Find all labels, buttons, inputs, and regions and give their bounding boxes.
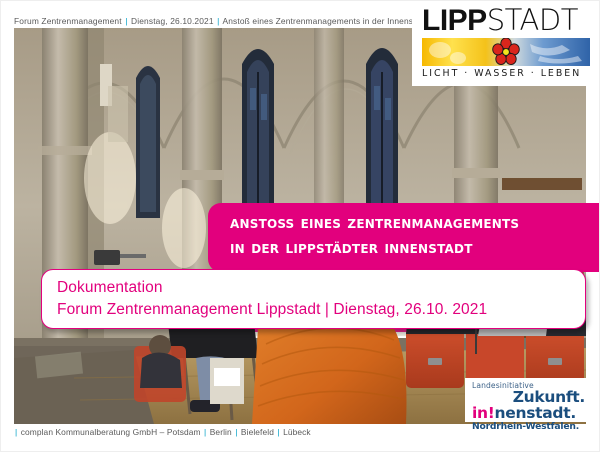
badge-in-mark: in! [472, 404, 495, 422]
footer-company: complan Kommunalberatung GmbH – Potsdam [21, 427, 201, 437]
header-separator-1: | [124, 16, 128, 26]
lippstadt-logo: LIPPSTADT [412, 0, 600, 86]
footer-city-1: Berlin [210, 427, 232, 437]
badge-footer: Nordrhein-Westfalen. [472, 422, 589, 432]
zukunft-innenstadt-badge: Landesinitiative Zukunft. in!nenstadt. N… [465, 378, 593, 422]
footer-credits: | complan Kommunalberatung GmbH – Potsda… [14, 427, 311, 437]
logo-band-graphic [422, 38, 590, 66]
title-line-1: Anstoß eines Zentrenmanagements [230, 211, 590, 236]
footer-city-3: Lübeck [283, 427, 311, 437]
logo-word-bold: LIPP [422, 4, 487, 37]
doc-line-1: Dokumentation [57, 277, 585, 299]
header-part-3: Anstoß eines Zentrenmanagements in der I… [222, 16, 427, 26]
logo-claim: LICHT · WASSER · LEBEN [422, 68, 592, 79]
doc-line-2: Forum Zentrenmanagement Lippstadt | Dien… [57, 299, 585, 321]
lippstadt-wordmark: LIPPSTADT [422, 4, 592, 37]
title-banner: Anstoß eines Zentrenmanagements in der L… [208, 203, 600, 272]
documentation-card: Dokumentation Forum Zentrenmanagement Li… [41, 269, 586, 329]
header-part-2: Dienstag, 26.10.2021 [131, 16, 214, 26]
badge-main-rest: nenstadt. [495, 404, 576, 422]
header-breadcrumb: Forum Zentrenmanagement | Dienstag, 26.1… [14, 16, 428, 26]
header-separator-2: | [216, 16, 220, 26]
logo-image-band [422, 38, 590, 66]
footer-separator-2: | [234, 427, 238, 437]
footer-separator-3: | [276, 427, 280, 437]
header-part-1: Forum Zentrenmanagement [14, 16, 122, 26]
slide-canvas: LIPPSTADT [0, 0, 600, 452]
logo-word-thin: STADT [487, 3, 578, 37]
footer-separator-1: | [203, 427, 207, 437]
footer-city-2: Bielefeld [241, 427, 274, 437]
title-line-2: in der Lippstädter Innenstadt [230, 236, 590, 261]
badge-main-line-2: in!nenstadt. [472, 406, 589, 422]
footer-separator-0: | [14, 427, 18, 437]
